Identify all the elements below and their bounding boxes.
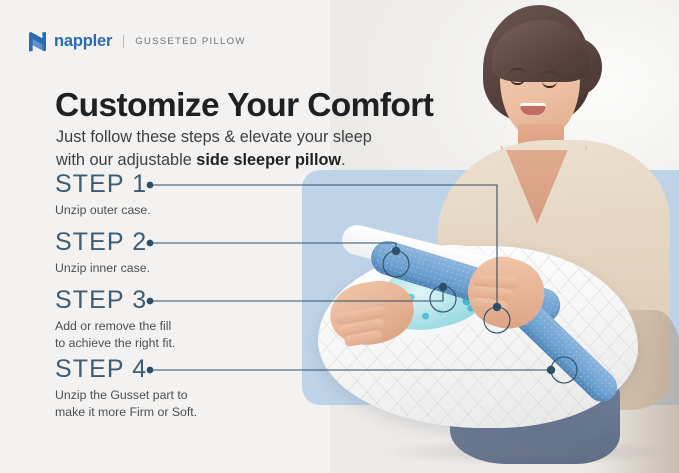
step-item-1: STEP 1 Unzip outer case. — [55, 172, 151, 219]
step-description-2: Unzip inner case. — [55, 260, 150, 277]
step-description-4: Unzip the Gusset part to make it more Fi… — [55, 387, 197, 421]
step-item-4: STEP 4 Unzip the Gusset part to make it … — [55, 357, 197, 421]
step-title-1: STEP 1 — [55, 172, 151, 197]
page-title: Customize Your Comfort — [55, 88, 433, 123]
subheadline: Just follow these steps & elevate your s… — [56, 126, 372, 172]
infographic-root: nappler GUSSETED PILLOW Customize Your C… — [0, 0, 679, 473]
nappler-n-mark-icon — [28, 31, 47, 52]
step-item-2: STEP 2 Unzip inner case. — [55, 230, 150, 277]
subheadline-line-2-suffix: . — [341, 151, 346, 169]
subheadline-line-2-prefix: with our adjustable — [56, 151, 196, 169]
eyebrow-left — [509, 68, 526, 75]
step-title-3: STEP 3 — [55, 288, 175, 313]
brand-name: nappler — [54, 32, 112, 51]
step-description-1: Unzip outer case. — [55, 202, 151, 219]
brand-lockup[interactable]: nappler GUSSETED PILLOW — [28, 31, 246, 52]
step-item-3: STEP 3 Add or remove the fill to achieve… — [55, 288, 175, 352]
eyebrow-right — [542, 71, 559, 78]
product-line-label: GUSSETED PILLOW — [135, 36, 245, 47]
step-title-4: STEP 4 — [55, 357, 197, 382]
step-description-3: Add or remove the fill to achieve the ri… — [55, 318, 175, 352]
subheadline-emphasis: side sleeper pillow — [196, 151, 341, 169]
floor-shadow — [380, 439, 679, 465]
brand-divider — [123, 35, 124, 48]
step-title-2: STEP 2 — [55, 230, 150, 255]
subheadline-line-1: Just follow these steps & elevate your s… — [56, 128, 372, 146]
